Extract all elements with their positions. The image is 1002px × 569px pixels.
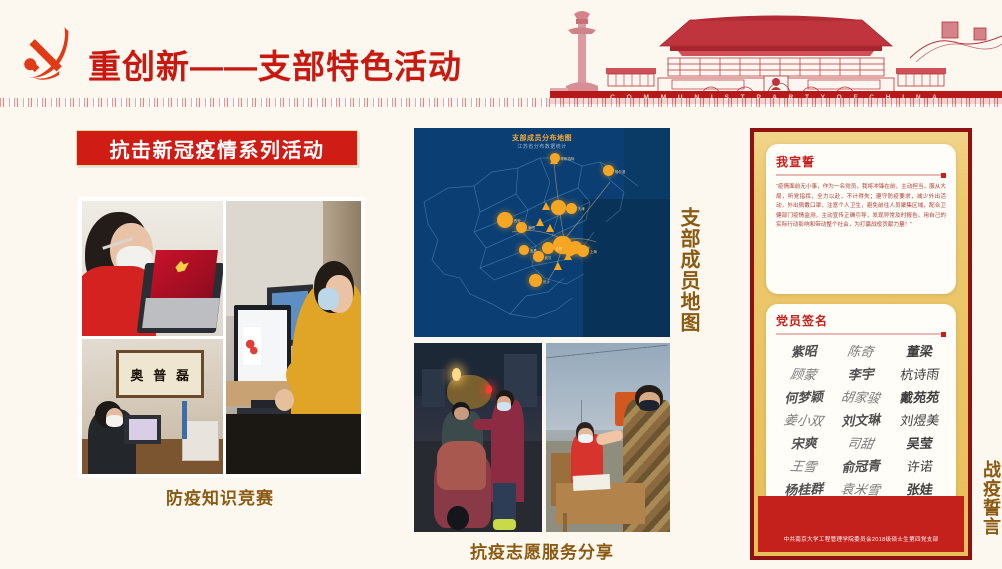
page-title: 重创新——支部特色活动 <box>88 40 462 88</box>
signature-name: 许诺 <box>890 456 947 476</box>
signature-heading: 党员签名 <box>776 312 946 329</box>
signature-name: 顾蒙 <box>775 363 833 384</box>
map-point-西安 <box>497 212 513 228</box>
slide-root: 重创新——支部特色活动 <box>0 0 1002 569</box>
map-point-label: 哈尔滨 <box>615 169 625 174</box>
vertical-label-pledge: 战疫誓言 <box>976 460 1000 536</box>
signature-name: 刘文琳 <box>833 409 889 431</box>
pledge-card: 我宣誓 “疫情面前无小事，作为一名党员，我将冲锋在前，主动担当，服从大局，听党指… <box>766 144 956 294</box>
signature-name: 刘煜美 <box>890 410 947 430</box>
hammer-sickle-emblem-icon <box>12 22 80 88</box>
map-point-呼和浩特 <box>550 153 560 163</box>
map-title: 支部成员分布地图 <box>414 133 670 143</box>
signature-name: 俞冠青 <box>833 455 889 477</box>
map-point-label: 上海 <box>590 249 597 254</box>
photo-volunteer-registration-desk <box>546 343 670 532</box>
map-point-天津 <box>566 203 577 214</box>
photo-night-checkpoint <box>414 343 542 532</box>
map-point-武汉 <box>533 251 544 262</box>
map-point-洛阳 <box>516 222 527 233</box>
map-subtitle: 江苏省分布数据统计 <box>414 143 670 150</box>
map-point-label: 呼和浩特 <box>561 156 575 161</box>
section-banner-covid-activities: 抗击新冠疫情系列活动 <box>76 130 358 166</box>
map-point-北京 <box>551 200 565 214</box>
photo-woman-red-hoodie-laptop <box>82 201 223 336</box>
map-point-label: 长沙 <box>543 279 550 284</box>
signature-name: 戴苑苑 <box>890 387 947 407</box>
tiananmen-header-illustration: C O M M U N I S T P A R T Y O F C H I N … <box>550 0 1002 104</box>
signature-name: 王雪 <box>775 455 833 476</box>
slide-header: 重创新——支部特色活动 <box>0 0 1002 104</box>
map-point-label: 合肥 <box>555 246 562 251</box>
signature-name: 宋爽 <box>776 432 832 454</box>
vertical-label-member-map: 支部成员地图 <box>672 207 698 333</box>
signature-card: 党员签名 紫昭陈奇董梁顾蒙李宇杭诗雨何梦颖胡家骏戴苑苑姜小双刘文琳刘煜美宋爽司甜… <box>766 304 956 506</box>
caption-volunteer-service: 抗疫志愿服务分享 <box>414 538 670 563</box>
signature-name: 杭诗雨 <box>890 364 947 384</box>
photo-student-desk-calligraphy: 奥普磊 <box>82 339 223 474</box>
pledge-footer-text: 中共南京大学工程管理学院委员会2018级硕士生第四党支部 <box>760 537 962 544</box>
photo-pair-volunteer-service <box>414 343 670 532</box>
tiananmen-svg-icon <box>550 0 1002 104</box>
signature-grid: 紫昭陈奇董梁顾蒙李宇杭诗雨何梦颖胡家骏戴苑苑姜小双刘文琳刘煜美宋爽司甜吴莹王雪俞… <box>776 341 946 521</box>
header-divider <box>0 98 1002 107</box>
photo-student-yellow-hoodie-pc <box>226 201 361 474</box>
map-point-label: 洛阳 <box>528 225 535 230</box>
pledge-panel-gold-frame: 我宣誓 “疫情面前无小事，作为一名党员，我将冲锋在前，主动担当，服从大局，听党指… <box>754 132 968 556</box>
caption-knowledge-contest: 防疫知识竞赛 <box>0 484 440 509</box>
pledge-heading: 我宣誓 <box>776 153 946 170</box>
map-point-长沙 <box>529 274 542 287</box>
signature-name: 姜小双 <box>775 409 833 430</box>
photo-collage-knowledge-contest: 奥普磊 <box>78 197 365 478</box>
pledge-body-text: “疫情面前无小事，作为一名党员，我将冲锋在前，主动担当，服从大局，听党指挥，全力… <box>776 183 946 231</box>
signature-name: 吴莹 <box>890 433 947 453</box>
signature-name: 紫昭 <box>776 340 832 362</box>
signature-name: 司甜 <box>832 432 890 453</box>
pledge-rule <box>776 174 946 176</box>
signature-name: 陈奇 <box>832 340 890 361</box>
signature-name: 李宇 <box>833 363 889 385</box>
signature-name: 董梁 <box>890 341 947 361</box>
map-point-label: 武汉 <box>545 255 552 260</box>
signature-name: 胡家骏 <box>832 386 890 407</box>
map-point-label: 天津 <box>578 206 585 211</box>
signature-name: 何梦颖 <box>776 386 832 408</box>
map-province-outlines-svg <box>414 128 670 337</box>
pledge-panel: 我宣誓 “疫情面前无小事，作为一名党员，我将冲锋在前，主动担当，服从大局，听党指… <box>750 128 972 560</box>
member-distribution-map: 支部成员分布地图 江苏省分布数据统计 西安洛阳北京天津哈尔滨呼和浩特南京苏州无锡… <box>414 128 670 337</box>
signature-rule <box>776 333 946 335</box>
